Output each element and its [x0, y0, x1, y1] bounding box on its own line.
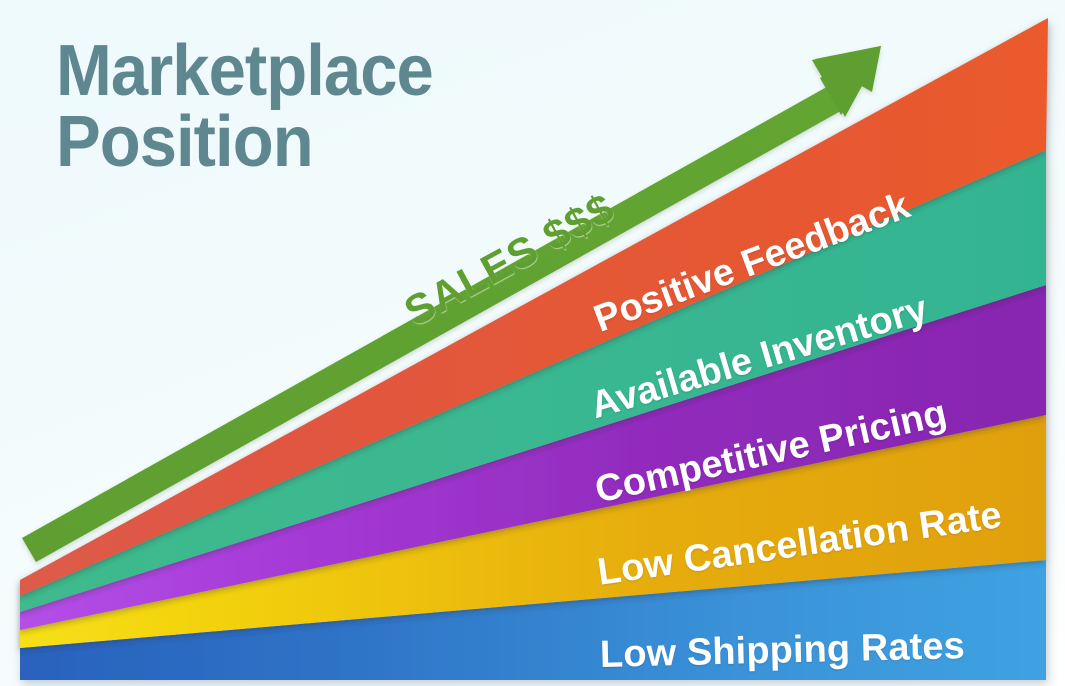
band-stack — [20, 18, 1048, 680]
infographic-canvas: Marketplace Position SALES $$$ Positive … — [0, 0, 1065, 686]
band-label-low-shipping-rates[interactable]: Low Shipping Rates — [599, 625, 965, 677]
fan-bands-graphic — [0, 0, 1065, 686]
